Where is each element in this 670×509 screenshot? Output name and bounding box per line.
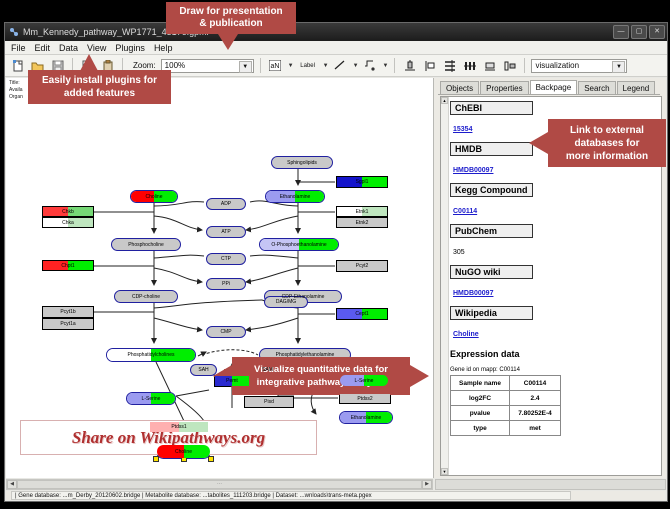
datanode-dropdown-icon[interactable]: ▼ (288, 63, 294, 69)
zoom-value: 100% (165, 61, 185, 70)
metabolite-node[interactable]: L-Serine (339, 374, 389, 387)
callout-visualize-stem-right (404, 369, 414, 383)
node-label: ATP (221, 229, 230, 235)
metabolite-node[interactable]: PPi (206, 278, 246, 290)
callout-plugins: Easily install plugins for added feature… (28, 70, 171, 104)
minimize-button[interactable]: — (613, 25, 629, 39)
canvas-horizontal-scrollbar[interactable]: ◀ ⋯ ▶ (6, 479, 433, 490)
scroll-left-icon[interactable]: ◀ (7, 480, 17, 489)
callout-plugins-line2: added features (64, 87, 135, 100)
node-label: CDP-choline (132, 294, 160, 300)
node-label: Pemt (226, 378, 238, 384)
toolbar-separator-4 (394, 58, 395, 73)
node-label: Phosphatidylcholines (128, 352, 175, 358)
node-label: Chpt1 (61, 263, 74, 269)
table-cell-key: log2FC (451, 391, 510, 406)
node-label: Etnk1 (356, 209, 369, 215)
metabolite-node[interactable]: L-Serine (126, 392, 176, 405)
db-link-wikipedia[interactable]: Choline (453, 331, 479, 338)
node-label: Pcyt1a (60, 321, 75, 327)
datanode-icon[interactable]: aN (267, 57, 284, 74)
window-controls[interactable]: — ▢ ✕ (613, 25, 665, 39)
metabolite-node[interactable]: CMP (206, 326, 246, 338)
expression-data-title: Expression data (450, 349, 658, 359)
node-label: Sgpl1 (356, 179, 369, 185)
visualization-chevron-down-icon[interactable]: ▼ (612, 61, 625, 73)
align-left-icon[interactable] (421, 57, 438, 74)
node-label: Cept1 (355, 311, 368, 317)
callout-link-pointer-stem (542, 136, 550, 150)
table-row: log2FC2.4 (451, 391, 561, 406)
db-header-kegg-compound: Kegg Compound (450, 183, 533, 197)
label-tool[interactable]: Label (297, 57, 319, 74)
expression-table: Sample nameC00114log2FC2.4pvalue7.80252E… (450, 375, 561, 436)
node-label: Pcyt2 (356, 263, 369, 269)
new-icon[interactable] (9, 57, 26, 74)
callout-plugins-pointer (80, 54, 98, 71)
node-label: DAG/MG (276, 299, 296, 305)
pathway-canvas[interactable]: Title: Availa Organ (6, 78, 434, 478)
arrow-icon[interactable] (362, 57, 379, 74)
metabolite-node[interactable]: O-Phosphoethanolamine (259, 238, 339, 251)
db-header-hmdb: HMDB (450, 142, 533, 156)
db-link-hmdb[interactable]: HMDB00097 (453, 167, 493, 174)
maximize-button[interactable]: ▢ (631, 25, 647, 39)
menu-item-data[interactable]: Data (59, 43, 78, 53)
node-label: Phosphocholine (128, 242, 164, 248)
metabolite-node[interactable]: Choline (156, 444, 211, 459)
callout-link: Link to external databases for more info… (548, 119, 666, 167)
group-icon[interactable] (481, 57, 498, 74)
chevron-down-icon[interactable]: ▼ (239, 61, 252, 73)
metabolite-node[interactable]: Sphingolipids (271, 156, 333, 169)
screenshot-root: Mm_Kennedy_pathway_WP1771_45176.gpml — ▢… (0, 0, 670, 509)
gene-node[interactable]: Etnk1 (336, 206, 388, 217)
node-label: Chka (62, 220, 74, 226)
node-label: PPi (222, 281, 230, 287)
tab-divider (438, 94, 660, 95)
table-row: Sample nameC00114 (451, 376, 561, 391)
db-header-chebi: ChEBI (450, 101, 533, 115)
arrow-dropdown-icon[interactable]: ▼ (383, 63, 389, 69)
callout-link-line3: more information (566, 150, 648, 163)
callout-draw: Draw for presentation & publication (166, 2, 296, 34)
distribute-icon[interactable] (461, 57, 478, 74)
table-cell-value: C00114 (510, 376, 561, 391)
callout-draw-pointer (218, 34, 238, 50)
label-dropdown-icon[interactable]: ▼ (323, 63, 329, 69)
db-link-kegg-compound[interactable]: C00114 (453, 208, 477, 215)
side-panel-tabs[interactable]: ObjectsPropertiesBackpageSearchLegend (440, 80, 656, 95)
gene-node[interactable]: Pemt (214, 375, 250, 387)
panel-horizontal-scrollbar[interactable] (435, 479, 666, 490)
metabolite-node[interactable]: Ethanolamine (339, 411, 393, 424)
zoom-combo[interactable]: 100% ▼ (161, 59, 254, 73)
metabolite-node[interactable]: CDP-choline (114, 290, 178, 303)
node-label: CTP (221, 256, 231, 262)
scroll-right-icon[interactable]: ▶ (422, 480, 432, 489)
menu-item-plugins[interactable]: Plugins (115, 43, 145, 53)
metabolite-node[interactable]: Phosphocholine (111, 238, 181, 251)
node-label: Chkb (62, 209, 74, 215)
node-label: Sphingolipids (287, 160, 317, 166)
metabolite-node[interactable]: CTP (206, 253, 246, 265)
node-label: Ptdss2 (357, 396, 372, 402)
node-label: Ethanolamine (280, 194, 311, 200)
node-label: Phosphatidylethanolamine (276, 352, 335, 358)
db-link-chebi[interactable]: 15354 (453, 126, 472, 133)
visualization-combo[interactable]: visualization ▼ (531, 59, 627, 73)
gene-node[interactable]: Sgpl1 (336, 176, 388, 188)
gene-node[interactable]: Ptdss2 (339, 393, 391, 404)
stack-icon[interactable] (441, 57, 458, 74)
node-label: L-Serine (142, 396, 161, 402)
close-button[interactable]: ✕ (649, 25, 665, 39)
menu-item-help[interactable]: Help (154, 43, 173, 53)
metabolite-node[interactable]: Phosphatidylcholines (106, 348, 196, 362)
table-cell-value: met (510, 421, 561, 436)
line-icon[interactable] (332, 57, 349, 74)
metabolite-node[interactable]: ATP (206, 226, 246, 238)
pathvisio-icon (9, 27, 19, 37)
node-label: SAH (198, 367, 208, 373)
menu-item-edit[interactable]: Edit (35, 43, 51, 53)
callout-plugins-line1: Easily install plugins for (42, 74, 157, 87)
gene-node[interactable]: Pcyt1b (42, 306, 94, 318)
tab-backpage[interactable]: Backpage (530, 80, 578, 95)
scroll-up-icon[interactable]: ▲ (441, 97, 448, 104)
node-label: Choline (146, 194, 163, 200)
status-bar-field: | Gene database: ...m_Derby_20120602.bri… (11, 491, 571, 500)
gene-node[interactable]: Ptdss1 (149, 421, 209, 433)
gene-node[interactable]: Pisd (244, 396, 294, 408)
node-label: Pcyt1b (60, 309, 75, 315)
tab-properties[interactable]: Properties (480, 81, 528, 95)
gene-node[interactable]: Etnk2 (336, 217, 388, 228)
metabolite-node[interactable]: Choline (130, 190, 178, 203)
db-value-pubchem: 305 (453, 249, 465, 256)
node-label: CMP (220, 329, 231, 335)
db-header-wikipedia: Wikipedia (450, 306, 533, 320)
node-label: Ethanolamine (351, 415, 382, 421)
line-dropdown-icon[interactable]: ▼ (353, 63, 359, 69)
toolbar-separator-3 (260, 58, 261, 73)
table-row: typemet (451, 421, 561, 436)
callout-draw-line1: Draw for presentation (179, 6, 282, 18)
gene-id-label: Gene id on mapp: C00114 (450, 367, 658, 373)
backpage-scrollbar[interactable]: ▲ ▼ (441, 97, 449, 475)
table-cell-value: 2.4 (510, 391, 561, 406)
status-text: | Gene database: ...m_Derby_20120602.bri… (12, 493, 372, 499)
table-cell-key: pvalue (451, 406, 510, 421)
node-label: L-Serine (355, 378, 374, 384)
gene-node[interactable]: Chpt1 (42, 260, 94, 271)
db-header-nugo-wiki: NuGO wiki (450, 265, 533, 279)
node-label: O-Phosphoethanolamine (271, 242, 326, 248)
table-cell-key: type (451, 421, 510, 436)
callout-draw-line2: & publication (199, 18, 262, 30)
gene-node[interactable]: Pcyt1a (42, 318, 94, 330)
db-link-nugo-wiki[interactable]: HMDB00097 (453, 290, 493, 297)
callout-link-line1: Link to external (570, 124, 644, 137)
label-button-text: Label (300, 63, 315, 69)
node-label: SAM (262, 367, 273, 373)
scroll-down-icon[interactable]: ▼ (441, 468, 448, 475)
align-top-icon[interactable] (401, 57, 418, 74)
menu-bar: File Edit Data View Plugins Help (5, 41, 667, 55)
node-label: Etnk2 (356, 220, 369, 226)
metabolite-node[interactable]: Ethanolamine (265, 190, 325, 203)
node-label: Ptdss1 (171, 424, 186, 430)
order-icon[interactable] (501, 57, 518, 74)
node-label: ADP (221, 201, 231, 207)
gene-node[interactable]: Chkb (42, 206, 94, 217)
table-cell-value: 7.80252E-4 (510, 406, 561, 421)
tab-legend[interactable]: Legend (617, 81, 656, 95)
callout-link-line2: databases for (574, 137, 639, 150)
table-cell-key: Sample name (451, 376, 510, 391)
scroll-thumb[interactable]: ⋯ (17, 480, 422, 489)
gene-node[interactable]: Pcyt2 (336, 260, 388, 272)
visualization-value: visualization (535, 61, 579, 70)
tab-objects[interactable]: Objects (440, 81, 479, 95)
title-bar: Mm_Kennedy_pathway_WP1771_45176.gpml — ▢… (5, 23, 667, 41)
gene-node[interactable]: Cept1 (336, 308, 388, 320)
gene-node[interactable]: Chka (42, 217, 94, 228)
toolbar-separator-5 (524, 58, 525, 73)
status-bar: | Gene database: ...m_Derby_20120602.bri… (6, 491, 665, 500)
table-row: pvalue7.80252E-4 (451, 406, 561, 421)
tab-search[interactable]: Search (578, 81, 615, 95)
node-label: Choline (175, 449, 192, 455)
metabolite-node[interactable]: ADP (206, 198, 246, 210)
menu-item-file[interactable]: File (11, 43, 26, 53)
db-header-pubchem: PubChem (450, 224, 533, 238)
menu-item-view[interactable]: View (87, 43, 106, 53)
node-label: Pisd (264, 399, 274, 405)
svg-text:aN: aN (271, 63, 280, 70)
zoom-label: Zoom: (133, 61, 156, 70)
